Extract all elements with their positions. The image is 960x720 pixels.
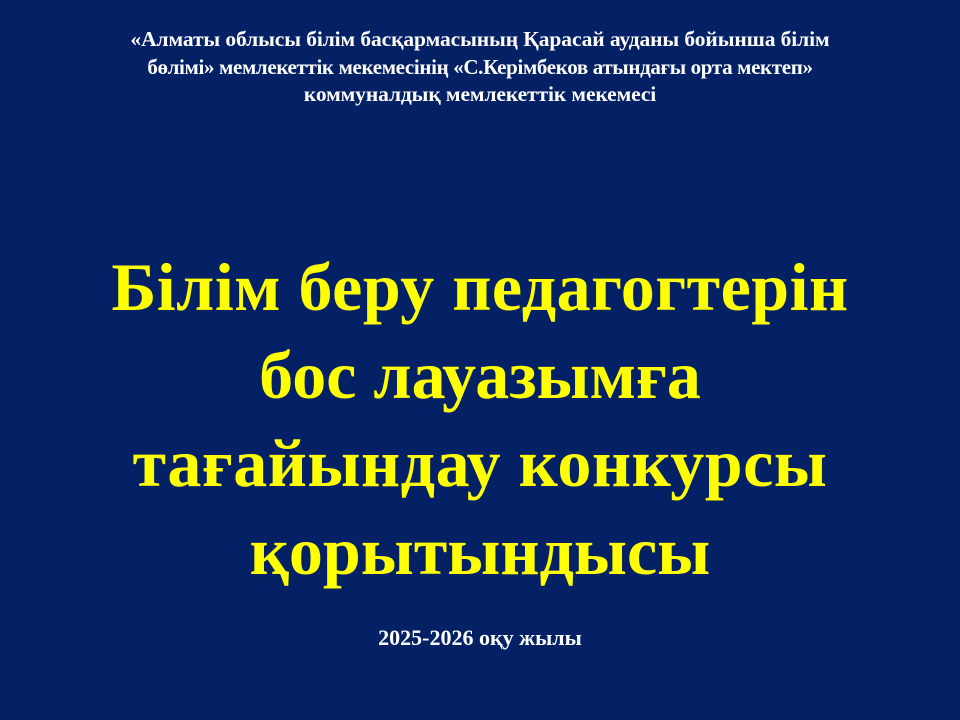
header-line-1: «Алматы облысы білім басқармасының Қарас… — [22, 26, 938, 54]
header-line-2: бөлімі» мемлекеттік мекемесінің «С.Керім… — [22, 54, 938, 82]
title-line-4: қорытындысы — [0, 507, 960, 595]
title-line-3: тағайындау конкурсы — [0, 419, 960, 507]
title-line-1: Білім беру педагогтерін — [0, 243, 960, 331]
presentation-slide: «Алматы облысы білім басқармасының Қарас… — [0, 0, 960, 720]
academic-year-label: 2025-2026 оқу жылы — [0, 624, 960, 652]
slide-footer: 2025-2026 оқу жылы — [0, 624, 960, 652]
title-line-2: бос лауазымға — [0, 331, 960, 419]
slide-title: Білім беру педагогтерін бос лауазымға та… — [0, 243, 960, 595]
header-line-3: коммуналдық мемлекеттік мекемесі — [22, 81, 938, 109]
slide-header: «Алматы облысы білім басқармасының Қарас… — [0, 26, 960, 109]
